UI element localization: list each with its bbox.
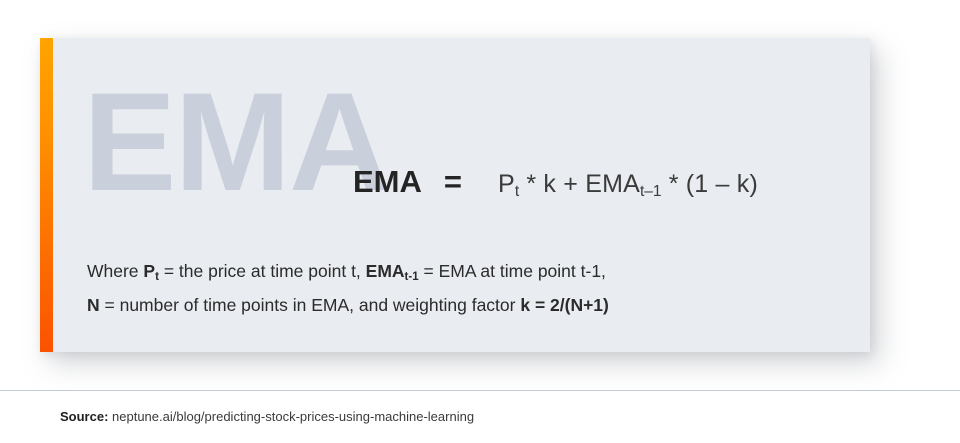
formula-expression: EMA = Pt * k + EMAt–1 * (1 – k) [353, 164, 758, 200]
card-body: EMA EMA = Pt * k + EMAt–1 * (1 – k) Wher… [53, 38, 870, 352]
footer-divider [0, 390, 960, 391]
description-ema-symbol: EMAt-1 [366, 261, 419, 281]
formula-right-hand-side: Pt * k + EMAt–1 * (1 – k) [498, 170, 758, 199]
description-where-prefix: Where [87, 261, 143, 281]
description-price-symbol: Pt [143, 261, 159, 281]
description-price-subscript: t [155, 271, 159, 283]
description-line1-suffix: = EMA at time point t-1, [419, 261, 606, 281]
orange-accent-bar [40, 38, 53, 352]
description-line-1: Where Pt = the price at time point t, EM… [87, 256, 609, 290]
ema-watermark-text: EMA [83, 72, 388, 212]
description-line1-middle: = the price at time point t, [159, 261, 366, 281]
description-line2-middle: = number of time points in EMA, and weig… [100, 295, 521, 315]
description-ema-subscript: t-1 [405, 271, 419, 283]
description-price-letter: P [143, 261, 155, 281]
formula-middle-operators: * k + EMA [519, 170, 640, 198]
description-n-symbol: N [87, 295, 100, 315]
source-url: neptune.ai/blog/predicting-stock-prices-… [108, 409, 474, 424]
description-ema-letters: EMA [366, 261, 405, 281]
formula-equals-sign: = [444, 164, 462, 200]
formula-tail-operators: * (1 – k) [662, 170, 758, 198]
formula-description: Where Pt = the price at time point t, EM… [87, 256, 609, 321]
description-k-formula: k = 2/(N+1) [520, 295, 609, 315]
formula-ema-subscript: t–1 [640, 183, 662, 200]
formula-left-hand-side: EMA [353, 164, 422, 200]
formula-price-symbol: P [498, 170, 515, 198]
source-attribution: Source: neptune.ai/blog/predicting-stock… [60, 409, 474, 424]
description-line-2: N = number of time points in EMA, and we… [87, 290, 609, 321]
source-label: Source: [60, 409, 108, 424]
formula-card: EMA EMA = Pt * k + EMAt–1 * (1 – k) Wher… [40, 38, 870, 352]
formula-price-subscript: t [515, 183, 519, 200]
